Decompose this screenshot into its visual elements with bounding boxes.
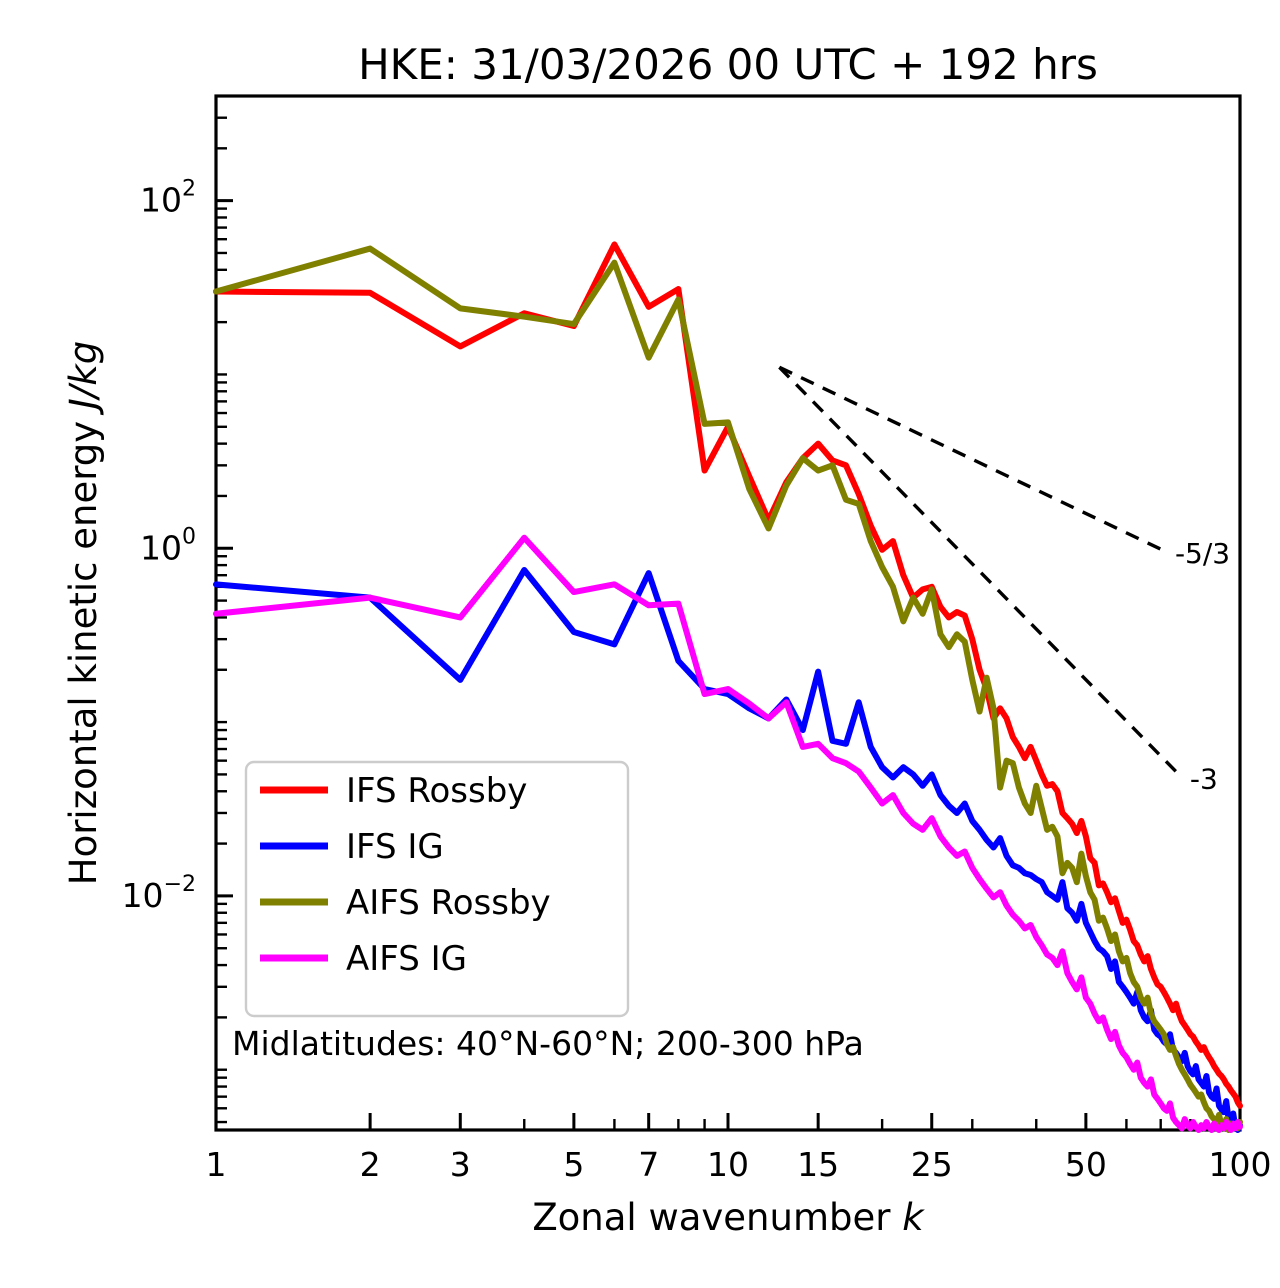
legend-label: IFS IG (346, 827, 444, 867)
legend-label: AIFS IG (346, 939, 467, 979)
y-tick-exponent: −2 (164, 872, 196, 897)
reference-slope-label: -3 (1190, 762, 1218, 795)
x-tick-label: 50 (1065, 1145, 1107, 1184)
y-tick-label: 102 (140, 177, 196, 220)
y-tick-exponent: 0 (182, 524, 196, 549)
y-tick-label: 100 (140, 524, 196, 567)
x-tick-label: 15 (797, 1145, 839, 1184)
plot-area: 1235710152550100 10210010−2 -5/3-3 Midla… (0, 0, 1280, 1288)
x-tick-label: 10 (707, 1145, 749, 1184)
legend-label: IFS Rossby (346, 771, 527, 811)
legend-label: AIFS Rossby (346, 883, 551, 923)
annotation-group: Midlatitudes: 40°N-60°N; 200-300 hPa (232, 1024, 864, 1063)
x-tick-label: 25 (911, 1145, 953, 1184)
figure-canvas: HKE: 31/03/2026 00 UTC + 192 hrs Horizon… (0, 0, 1280, 1288)
legend: IFS RossbyIFS IGAIFS RossbyAIFS IG (246, 762, 628, 1016)
x-tick-label: 100 (1209, 1145, 1272, 1184)
reference-slope-label: -5/3 (1175, 537, 1230, 570)
region-annotation: Midlatitudes: 40°N-60°N; 200-300 hPa (232, 1024, 864, 1063)
x-tick-label: 1 (206, 1145, 227, 1184)
x-tick-label: 5 (563, 1145, 584, 1184)
reference-slope-line (779, 367, 1181, 777)
x-tick-label: 7 (638, 1145, 659, 1184)
y-tick-exponent: 2 (182, 177, 196, 202)
x-tick-label: 3 (450, 1145, 471, 1184)
x-axis-ticks: 1235710152550100 (206, 1113, 1272, 1184)
y-tick-label: 10−2 (122, 872, 196, 915)
x-tick-label: 2 (360, 1145, 381, 1184)
